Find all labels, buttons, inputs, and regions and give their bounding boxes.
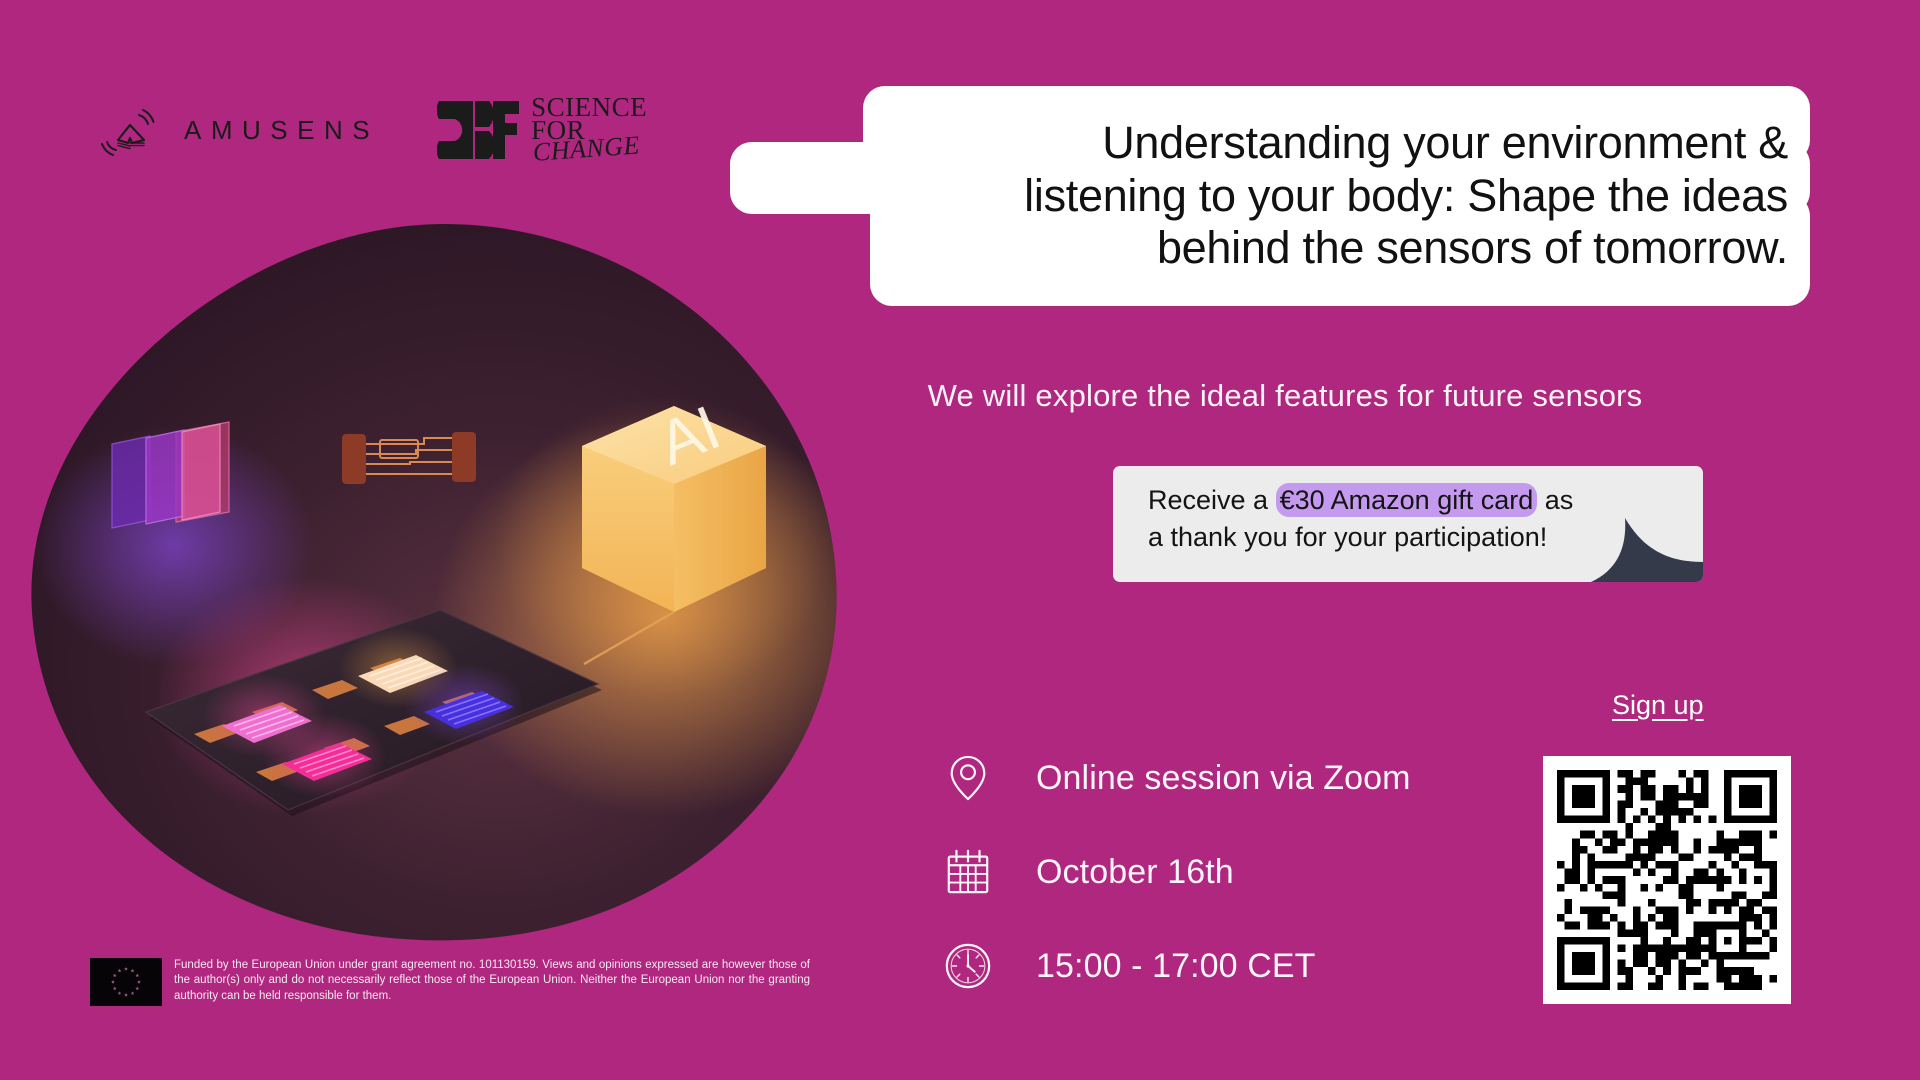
detail-label-time: 15:00 - 17:00 CET [1036, 947, 1316, 986]
sign-up-link[interactable]: Sign up [1612, 690, 1704, 721]
headline-card: Understanding your environment & listeni… [730, 86, 1810, 306]
subtitle: We will explore the ideal features for f… [760, 378, 1810, 414]
sensor-array-3d-render: AI [24, 216, 846, 946]
eu-funding-text: Funded by the European Union under grant… [174, 958, 810, 1006]
amusens-sensor-wave-icon [98, 102, 158, 158]
european-union-flag [90, 958, 162, 1006]
headline-line-2: listening to your body: Shape the ideas [730, 170, 1788, 223]
calendar-icon [942, 846, 994, 898]
headline-line-1: Understanding your environment & [730, 117, 1788, 170]
location-pin-icon [942, 752, 994, 804]
amusens-logo: AMUSENS [98, 102, 379, 158]
gift-card-callout: Receive a €30 Amazon gift card as a than… [1113, 466, 1703, 582]
detail-row-location: Online session via Zoom [942, 752, 1411, 804]
headline-text: Understanding your environment & listeni… [730, 86, 1810, 306]
eu-funding-footer: Funded by the European Union under grant… [90, 958, 820, 1006]
sfc-line-3: CHANGE [532, 134, 649, 164]
science-for-change-logo: SCIENCE FOR CHANGE [437, 96, 647, 165]
detail-label-location: Online session via Zoom [1036, 759, 1411, 798]
amusens-wordmark: AMUSENS [184, 117, 379, 143]
gift-card-text: Receive a €30 Amazon gift card as a than… [1113, 466, 1703, 582]
clock-icon [942, 940, 994, 992]
gift-text-line-2: a thank you for your participation! [1148, 522, 1547, 552]
headline-line-3: behind the sensors of tomorrow. [730, 222, 1788, 275]
qr-code-image [1557, 770, 1777, 990]
science-for-change-wordmark: SCIENCE FOR CHANGE [531, 96, 647, 165]
event-details-list: Online session via Zoom October 16th [942, 752, 1411, 992]
logo-row: AMUSENS SCIENCE FOR CHANGE [98, 96, 647, 165]
detail-label-date: October 16th [1036, 853, 1234, 892]
gift-text-before: Receive a [1148, 485, 1276, 515]
poster-canvas: AMUSENS SCIENCE FOR CHANGE [0, 0, 1920, 1080]
gift-highlight: €30 Amazon gift card [1276, 483, 1538, 517]
detail-row-date: October 16th [942, 846, 1411, 898]
gift-text-after: as [1537, 485, 1573, 515]
science-for-change-monogram-icon [437, 99, 521, 161]
detail-row-time: 15:00 - 17:00 CET [942, 940, 1411, 992]
signup-qr-code[interactable] [1543, 756, 1791, 1004]
